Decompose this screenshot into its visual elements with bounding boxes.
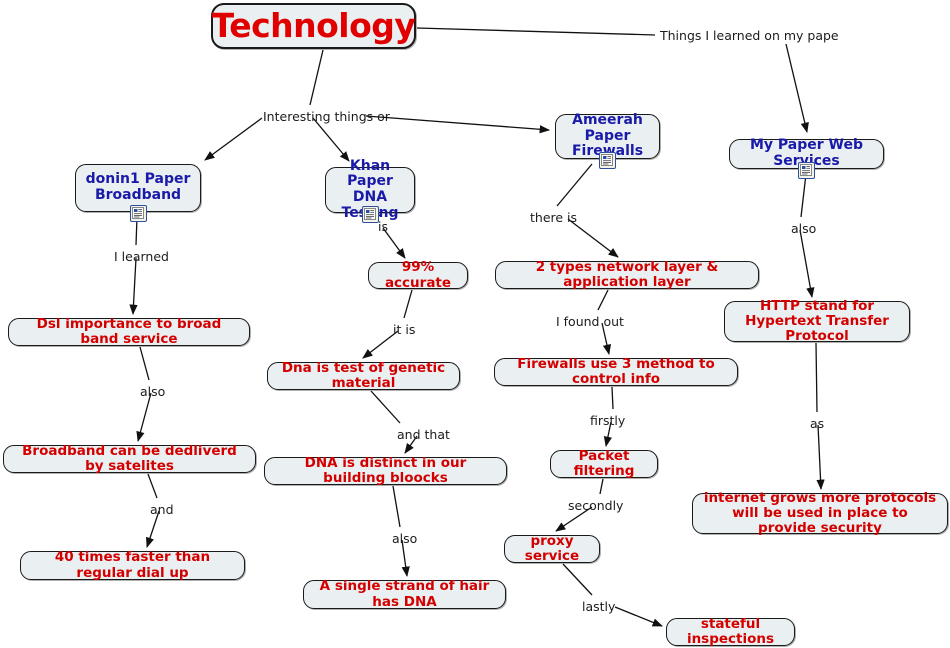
- edge-e-web-also: [801, 174, 806, 217]
- node-accurate[interactable]: 99% accurate: [368, 262, 468, 289]
- node-http[interactable]: HTTP stand for Hypertext Transfer Protoc…: [724, 301, 910, 342]
- edge-e-also-satelites: [138, 393, 151, 441]
- link-label-l-also-3[interactable]: also: [791, 223, 816, 236]
- node-genetic[interactable]: Dna is test of genetic material: [267, 362, 460, 390]
- edge-e-three-firstly: [612, 387, 613, 409]
- edge-e-proxy-lastly: [563, 564, 592, 595]
- node-protocols[interactable]: internet grows more protocols will be us…: [692, 493, 948, 534]
- edge-e-http-as: [816, 343, 817, 412]
- resource-document-icon[interactable]: [599, 152, 616, 169]
- node-twotypes[interactable]: 2 types network layer & application laye…: [495, 261, 759, 289]
- link-label-l-things[interactable]: Things I learned on my pape: [660, 30, 839, 43]
- edge-e-bloocks-also: [393, 486, 400, 527]
- link-label-l-interesting[interactable]: Interesting things or: [263, 111, 390, 124]
- link-label-l-andthat[interactable]: and that: [397, 429, 450, 442]
- link-label-l-ilearned[interactable]: I learned: [114, 251, 169, 264]
- node-label-donin1: donin1 Paper Broadband: [86, 172, 191, 203]
- node-proxy[interactable]: proxy service: [504, 535, 600, 563]
- edge-e-ilearned-dsl: [133, 258, 136, 314]
- node-bloocks[interactable]: DNA is distinct in our building bloocks: [264, 457, 507, 485]
- edge-e-interesting-ameer: [366, 116, 549, 130]
- node-label-http: HTTP stand for Hypertext Transfer Protoc…: [733, 299, 901, 344]
- resource-document-icon[interactable]: [130, 205, 147, 222]
- node-label-satelites: Broadband can be dedliverd by satelites: [12, 444, 247, 474]
- resource-document-icon[interactable]: [798, 162, 815, 179]
- edge-e-as-protocols: [818, 425, 821, 489]
- node-packet[interactable]: Packet filtering: [550, 450, 658, 478]
- node-technology[interactable]: Technology: [211, 3, 416, 49]
- node-label-protocols: internet grows more protocols will be us…: [701, 491, 939, 536]
- node-label-hair: A single strand of hair has DNA: [312, 579, 497, 609]
- node-dialup[interactable]: 40 times faster than regular dial up: [20, 551, 245, 580]
- node-label-stateful: stateful inspections: [675, 617, 786, 647]
- link-label-l-also-2[interactable]: also: [392, 533, 417, 546]
- edge-e-things-web: [786, 44, 807, 132]
- link-label-l-as[interactable]: as: [810, 418, 824, 431]
- node-label-technology: Technology: [212, 8, 416, 45]
- node-satelites[interactable]: Broadband can be dedliverd by satelites: [3, 445, 256, 473]
- node-label-proxy: proxy service: [513, 534, 591, 564]
- link-label-l-and[interactable]: and: [150, 504, 174, 517]
- edge-e-ameer-thereis: [557, 164, 592, 206]
- node-dsl[interactable]: Dsl importance to broad band service: [8, 318, 250, 346]
- node-label-dsl: Dsl importance to broad band service: [17, 317, 241, 347]
- node-label-twotypes: 2 types network layer & application laye…: [504, 260, 750, 290]
- edge-e-genetic-andthat: [371, 391, 400, 423]
- node-threemethod[interactable]: Firewalls use 3 method to control info: [494, 358, 738, 386]
- edge-e-twotypes-ifound: [598, 290, 608, 310]
- edge-e-lastly-stateful: [615, 607, 662, 626]
- edge-e-dsl-also: [140, 347, 149, 380]
- node-stateful[interactable]: stateful inspections: [666, 618, 795, 646]
- edge-e-packet-secondly: [600, 479, 603, 494]
- link-label-l-secondly[interactable]: secondly: [568, 500, 623, 513]
- link-label-l-thereis[interactable]: there is: [530, 212, 577, 225]
- link-label-l-itis[interactable]: it is: [393, 324, 415, 337]
- resource-document-icon[interactable]: [362, 206, 379, 223]
- link-label-l-firstly[interactable]: firstly: [590, 415, 625, 428]
- node-label-dialup: 40 times faster than regular dial up: [29, 550, 236, 580]
- concept-map-canvas: Technologydonin1 Paper BroadbandKhan Pap…: [0, 0, 950, 648]
- link-label-l-ifoundout[interactable]: I found out: [556, 316, 624, 329]
- edge-e-interesting-donin: [205, 118, 262, 160]
- node-label-threemethod: Firewalls use 3 method to control info: [503, 357, 729, 387]
- edge-e-accurate-itis: [404, 290, 412, 318]
- link-label-l-is[interactable]: is: [378, 221, 388, 234]
- edge-e-interesting-khan: [313, 118, 349, 161]
- node-hair[interactable]: A single strand of hair has DNA: [303, 580, 506, 609]
- edge-e-tech-interesting: [310, 50, 323, 105]
- node-label-accurate: 99% accurate: [377, 260, 459, 290]
- link-label-l-also-1[interactable]: also: [140, 386, 165, 399]
- node-label-genetic: Dna is test of genetic material: [276, 361, 451, 391]
- link-label-l-lastly[interactable]: lastly: [582, 601, 615, 614]
- edge-e-tech-things: [417, 28, 655, 35]
- edge-e-also-http: [800, 230, 812, 297]
- edge-e-satelites-and: [148, 474, 157, 498]
- node-label-packet: Packet filtering: [559, 449, 649, 479]
- node-label-bloocks: DNA is distinct in our building bloocks: [273, 456, 498, 486]
